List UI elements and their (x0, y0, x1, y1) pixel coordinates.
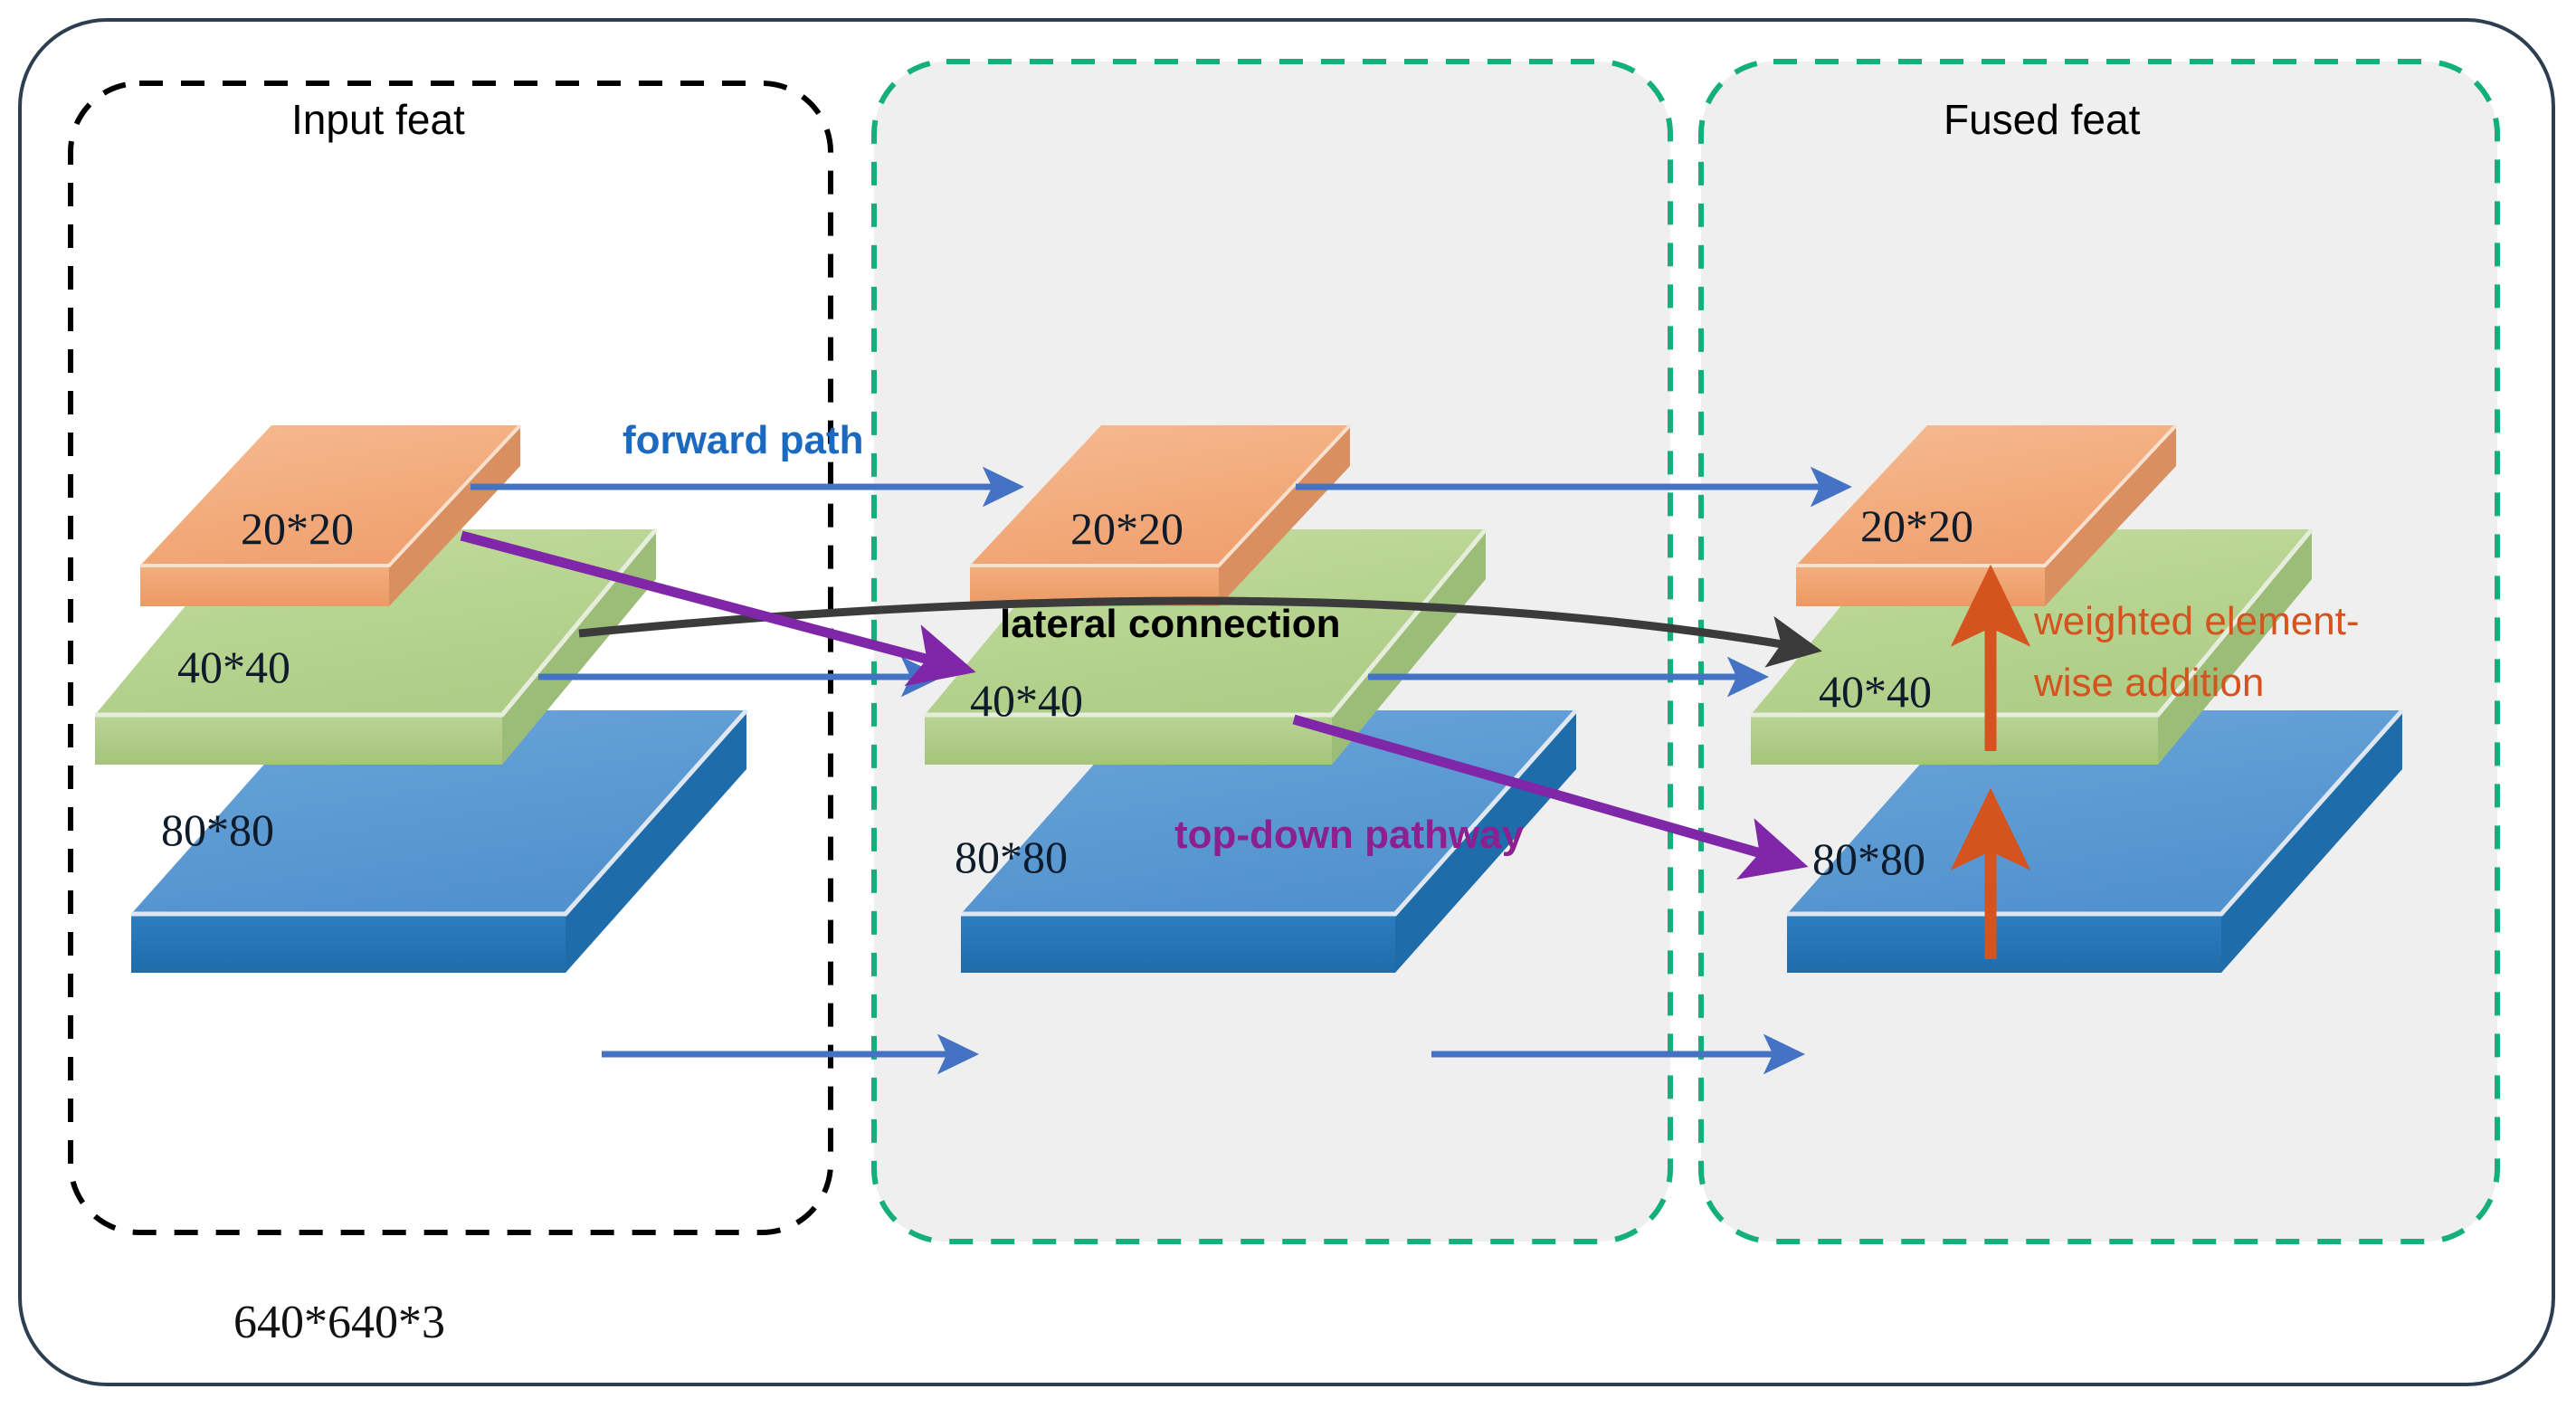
caption-lateral-connection: lateral connection (1000, 602, 1341, 647)
caption-top-down-pathway: top-down pathway (1174, 813, 1524, 858)
slab-label-fused-40: 40*40 (1819, 665, 1932, 718)
image-dimension-label: 640*640*3 (233, 1296, 445, 1349)
caption-weighted-addition-line1: weighted element- (2034, 595, 2360, 648)
slab-label-middle-80: 80*80 (955, 831, 1068, 883)
slab-label-fused-20: 20*20 (1860, 499, 1973, 552)
slab-label-input-20: 20*20 (241, 502, 354, 555)
slab-label-middle-40: 40*40 (970, 674, 1083, 727)
caption-weighted-addition-line2: wise addition (2034, 657, 2264, 709)
slab-label-middle-20: 20*20 (1070, 502, 1183, 555)
panel-title-fused: Fused feat (1944, 95, 2140, 144)
slab-label-input-80: 80*80 (161, 804, 274, 856)
caption-forward-path: forward path (623, 418, 863, 463)
slab-label-input-40: 40*40 (177, 641, 290, 693)
slab-label-fused-80: 80*80 (1812, 832, 1925, 885)
figure-canvas: Input feat Fused feat 20*20 40*40 80*80 … (0, 0, 2576, 1408)
panel-title-input: Input feat (291, 95, 465, 144)
